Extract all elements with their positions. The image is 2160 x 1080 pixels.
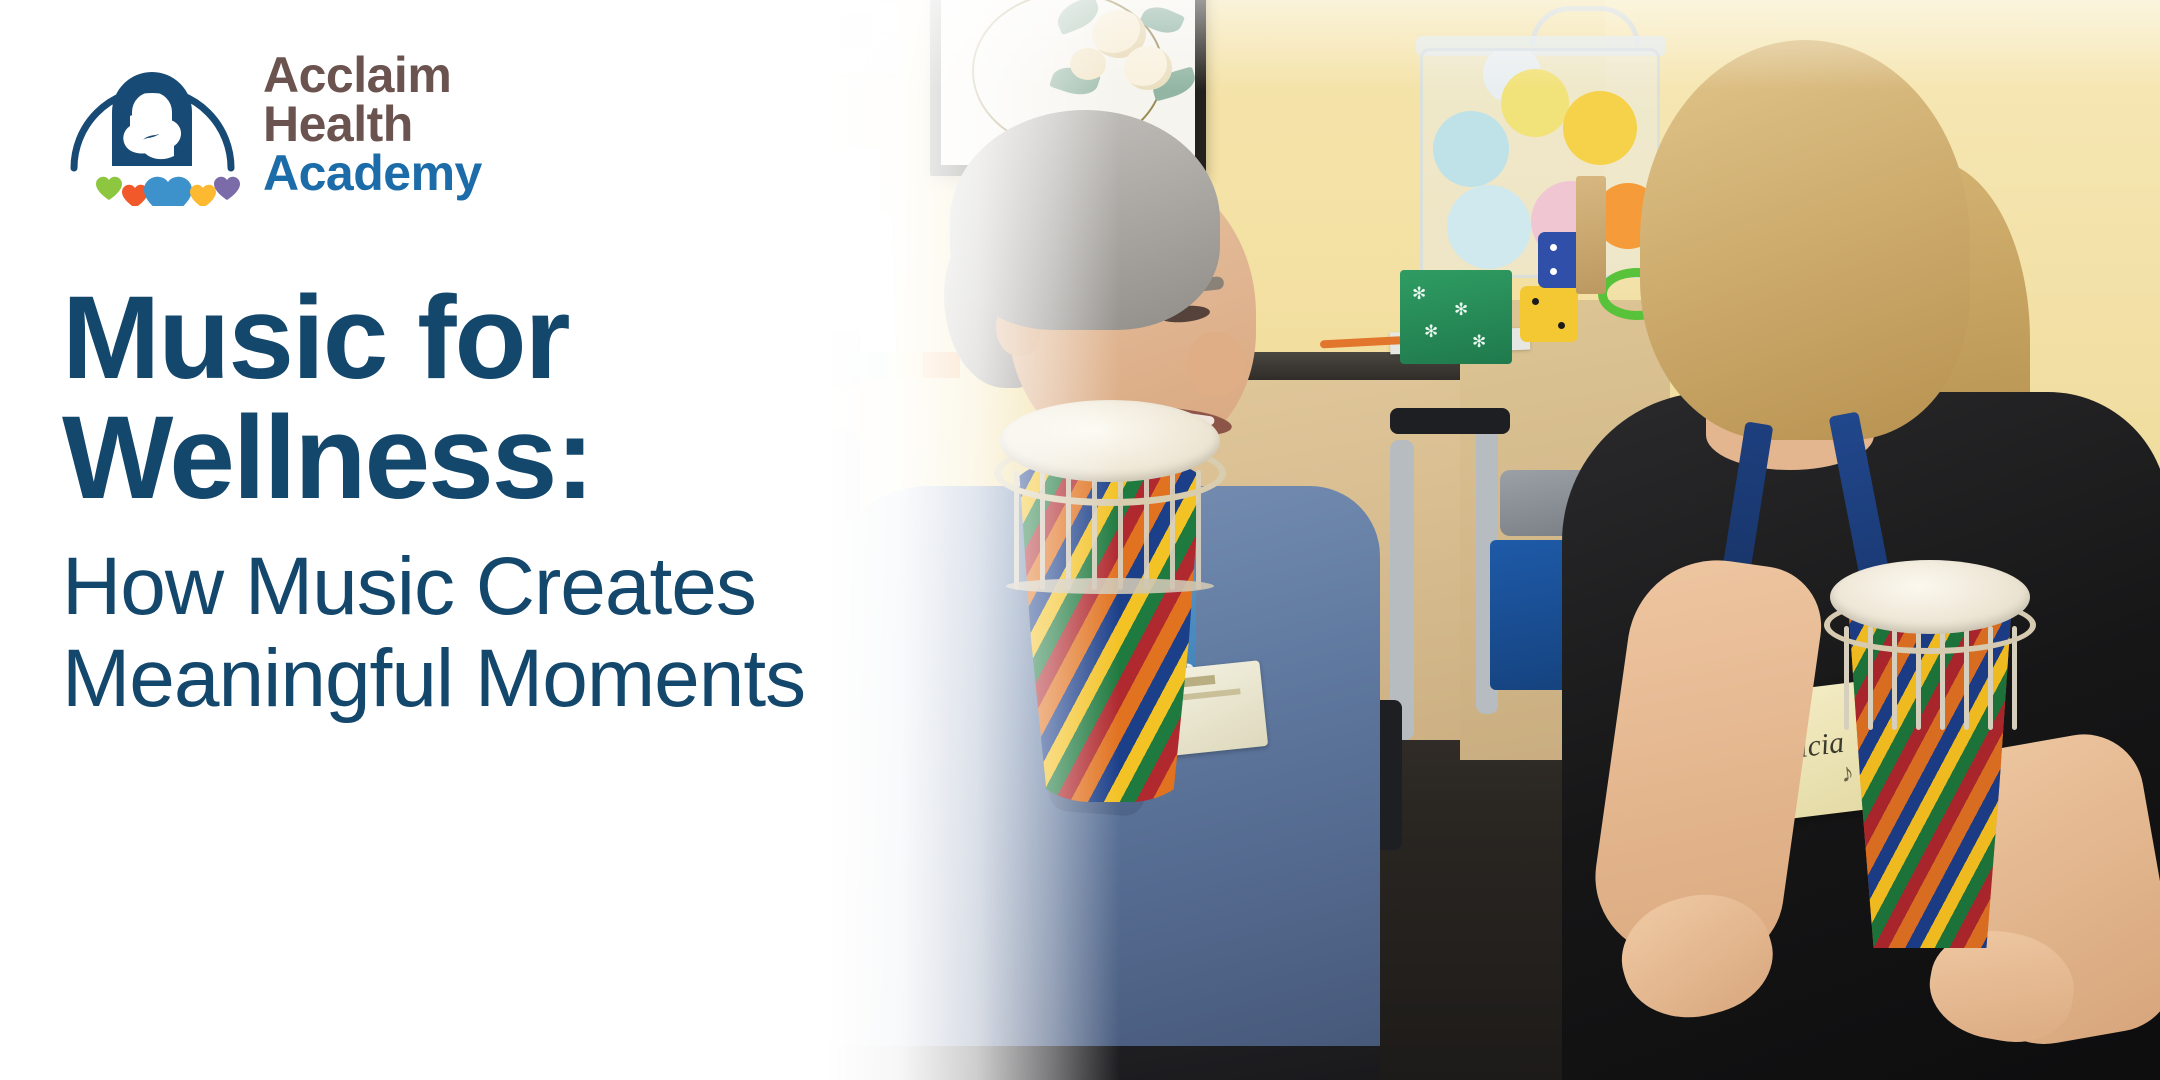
logo-word-acclaim: Acclaim: [263, 51, 482, 100]
snowflake-icon: ✻: [1472, 332, 1486, 352]
page-title: Music for Wellness:: [62, 278, 1062, 519]
title-line-2: Wellness:: [62, 398, 1062, 518]
therapist-blonde-hair: [1640, 40, 1970, 440]
logo-wordmark: Acclaim Health Academy: [263, 47, 482, 198]
snowflake-icon: ✻: [1454, 300, 1468, 320]
foam-ball: [1433, 111, 1509, 187]
text-panel: Acclaim Health Academy Music for Wellnes…: [0, 0, 1120, 1080]
subtitle-line-1: How Music Creates: [62, 541, 1062, 633]
acclaim-health-academy-logo[interactable]: Acclaim Health Academy: [60, 38, 482, 206]
logo-word-health: Health: [263, 100, 482, 149]
flower: [1124, 46, 1172, 90]
headline-block: Music for Wellness: How Music Creates Me…: [62, 278, 1062, 724]
djembe-drum-therapist: [1830, 560, 2030, 960]
acclaim-health-academy-banner: 73: [0, 0, 2160, 1080]
page-subtitle: How Music Creates Meaningful Moments: [62, 541, 1062, 725]
djembe-drum-head: [1830, 560, 2030, 634]
man-nose: [1188, 332, 1246, 396]
foam-ball: [1447, 185, 1531, 269]
title-line-1: Music for: [62, 278, 1062, 398]
logo-word-academy: Academy: [263, 149, 482, 198]
logo-mark-icon: [60, 38, 245, 206]
subtitle-line-2: Meaningful Moments: [62, 633, 1062, 725]
